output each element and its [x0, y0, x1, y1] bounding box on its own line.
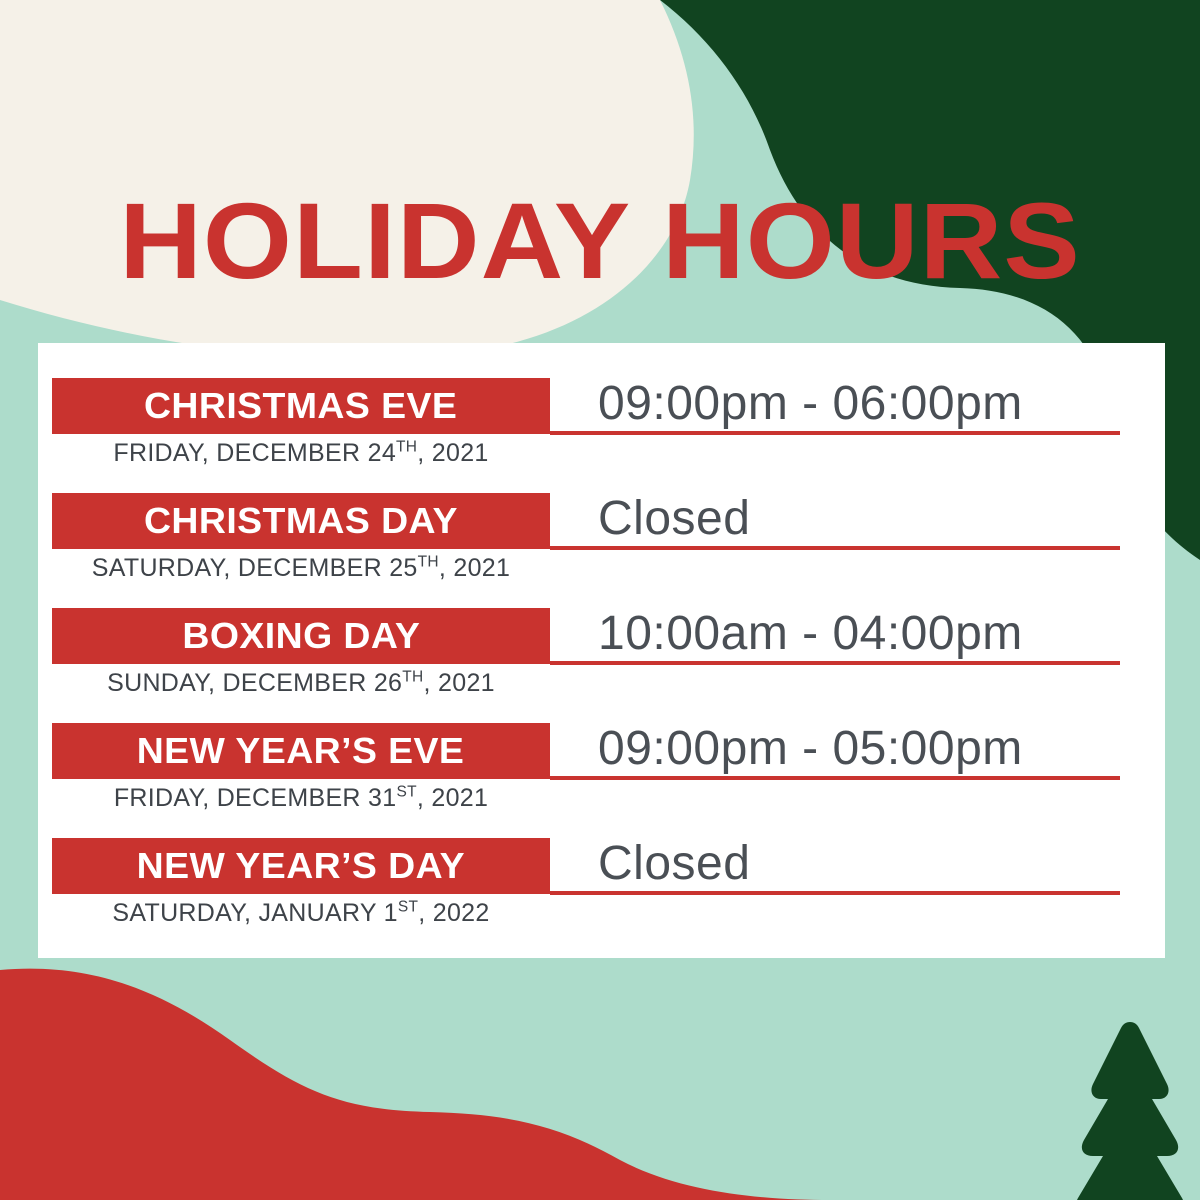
holiday-date-ordinal: TH [402, 669, 423, 686]
holiday-date-suffix: , 2021 [417, 784, 488, 812]
holiday-hours-poster: HOLIDAY HOURS CHRISTMAS EVE FRIDAY, DECE… [0, 0, 1200, 1200]
schedule-row: BOXING DAY SUNDAY, DECEMBER 26TH, 2021 1… [38, 608, 1165, 722]
holiday-hours-value: 09:00pm - 05:00pm [598, 719, 1138, 779]
holiday-date-prefix: SUNDAY, DECEMBER 26 [107, 669, 402, 697]
holiday-date-suffix: , 2021 [424, 669, 495, 697]
hours-underline [550, 891, 1120, 895]
holiday-name-label: NEW YEAR’S EVE [137, 732, 465, 770]
holiday-hours-value: Closed [598, 489, 1138, 549]
holiday-name-banner: NEW YEAR’S DAY [52, 838, 550, 894]
holiday-date-ordinal: ST [398, 899, 418, 916]
schedule-row: CHRISTMAS EVE FRIDAY, DECEMBER 24TH, 202… [38, 378, 1165, 492]
holiday-date-prefix: FRIDAY, DECEMBER 24 [113, 439, 396, 467]
holiday-hours-value: 10:00am - 04:00pm [598, 604, 1138, 664]
holiday-hours-value: 09:00pm - 06:00pm [598, 374, 1138, 434]
holiday-name-banner: BOXING DAY [52, 608, 550, 664]
holiday-name-label: BOXING DAY [182, 617, 420, 655]
holiday-name-label: CHRISTMAS EVE [144, 387, 457, 425]
hours-underline [550, 431, 1120, 435]
holiday-date: SUNDAY, DECEMBER 26TH, 2021 [52, 666, 550, 700]
holiday-name-banner: CHRISTMAS DAY [52, 493, 550, 549]
holiday-date: FRIDAY, DECEMBER 31ST, 2021 [52, 781, 550, 815]
holiday-date: SATURDAY, DECEMBER 25TH, 2021 [52, 551, 550, 585]
holiday-date-ordinal: ST [396, 784, 416, 801]
schedule-card: CHRISTMAS EVE FRIDAY, DECEMBER 24TH, 202… [38, 343, 1165, 958]
holiday-name-label: NEW YEAR’S DAY [137, 847, 465, 885]
holiday-date-suffix: , 2021 [417, 439, 488, 467]
hours-underline [550, 546, 1120, 550]
holiday-hours-value: Closed [598, 834, 1138, 894]
holiday-date-prefix: SATURDAY, DECEMBER 25 [92, 554, 418, 582]
holiday-date-suffix: , 2022 [418, 899, 489, 927]
holiday-name-banner: CHRISTMAS EVE [52, 378, 550, 434]
schedule-rows: CHRISTMAS EVE FRIDAY, DECEMBER 24TH, 202… [38, 343, 1165, 958]
holiday-date-prefix: SATURDAY, JANUARY 1 [112, 899, 397, 927]
holiday-name-banner: NEW YEAR’S EVE [52, 723, 550, 779]
schedule-row: NEW YEAR’S EVE FRIDAY, DECEMBER 31ST, 20… [38, 723, 1165, 837]
holiday-date: SATURDAY, JANUARY 1ST, 2022 [52, 896, 550, 930]
schedule-row: NEW YEAR’S DAY SATURDAY, JANUARY 1ST, 20… [38, 838, 1165, 952]
hours-underline [550, 661, 1120, 665]
page-title: HOLIDAY HOURS [0, 186, 1200, 296]
holiday-date: FRIDAY, DECEMBER 24TH, 2021 [52, 436, 550, 470]
holiday-date-ordinal: TH [396, 439, 417, 456]
schedule-row: CHRISTMAS DAY SATURDAY, DECEMBER 25TH, 2… [38, 493, 1165, 607]
holiday-name-label: CHRISTMAS DAY [144, 502, 458, 540]
holiday-date-prefix: FRIDAY, DECEMBER 31 [114, 784, 397, 812]
holiday-date-ordinal: TH [418, 554, 439, 571]
holiday-date-suffix: , 2021 [439, 554, 510, 582]
hours-underline [550, 776, 1120, 780]
